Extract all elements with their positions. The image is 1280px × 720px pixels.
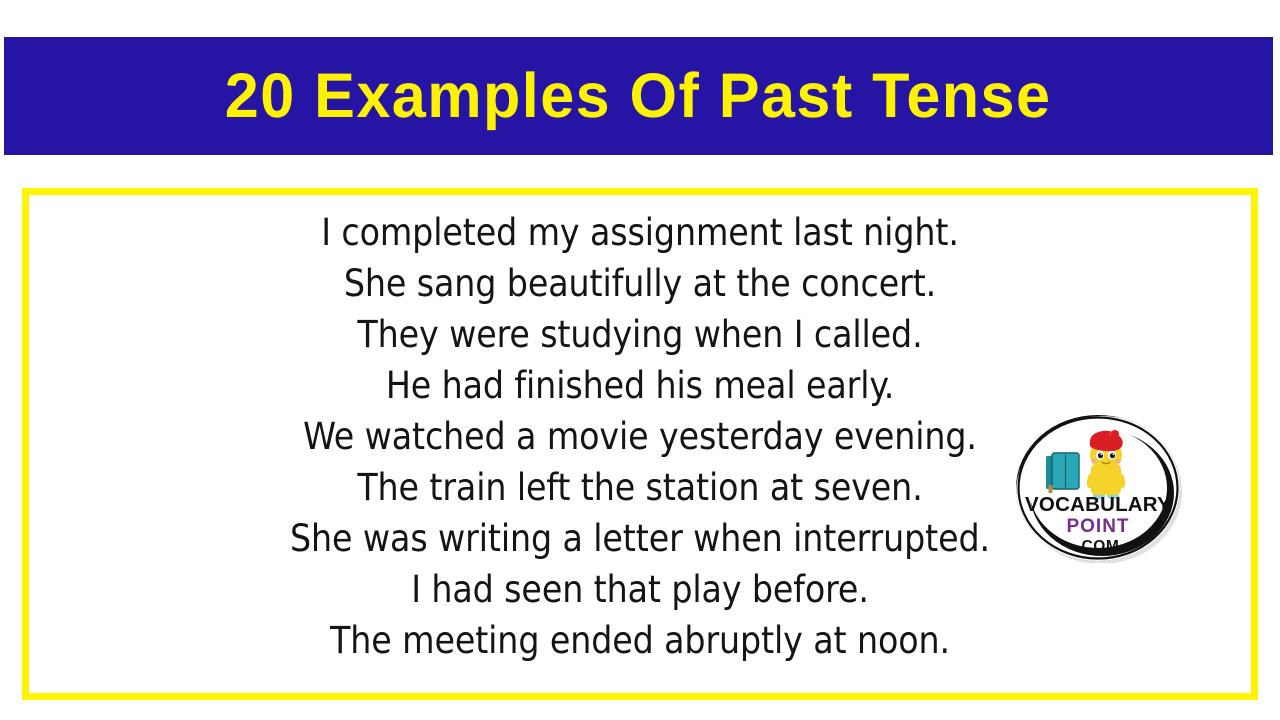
list-item: I had seen that play before. [29, 564, 1251, 615]
list-item: I completed my assignment last night. [29, 207, 1251, 258]
book-icon [1046, 453, 1079, 493]
list-item: They were studying when I called. [29, 309, 1251, 360]
logo-line-vocabulary: VOCABULARY [1025, 493, 1171, 516]
examples-card: I completed my assignment last night. Sh… [22, 188, 1258, 700]
list-item: The meeting ended abruptly at noon. [29, 615, 1251, 666]
list-item: He had finished his meal early. [29, 360, 1251, 411]
list-item: She sang beautifully at the concert. [29, 258, 1251, 309]
title-banner: 20 Examples Of Past Tense [4, 37, 1273, 155]
page-title: 20 Examples Of Past Tense [225, 65, 1052, 128]
logo-line-point: POINT [1066, 516, 1129, 537]
vocabulary-point-logo: VOCABULARY POINT .COM [1014, 413, 1182, 563]
logo-line-com: .COM [1077, 538, 1120, 555]
